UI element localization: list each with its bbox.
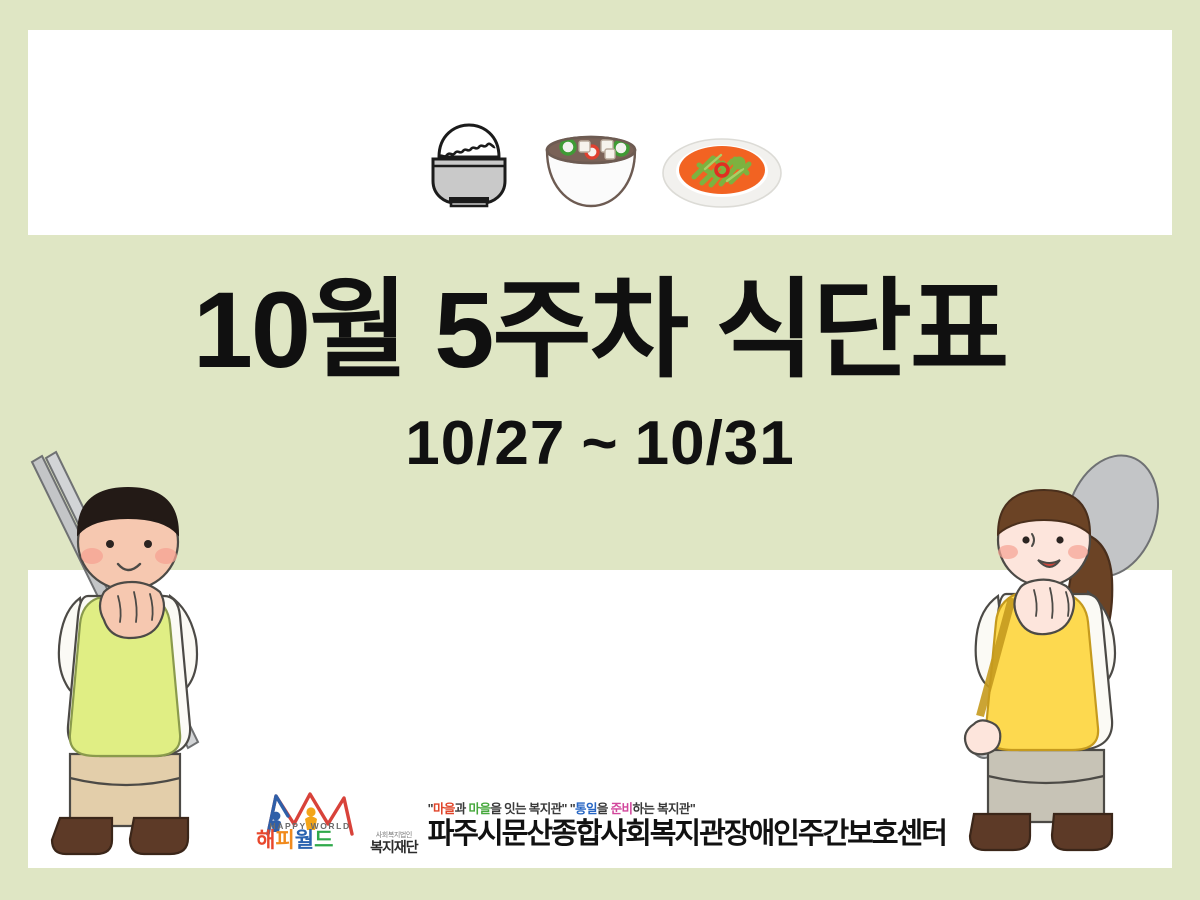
logo-char-3: 드 bbox=[314, 830, 333, 851]
tagline-seg-7: 준비 bbox=[611, 802, 633, 816]
logo-char-2: 월 bbox=[295, 830, 314, 851]
logo-subtitle: 사회복지법인 복지재단 bbox=[370, 832, 418, 858]
tagline-seg-8: 하는 복지관" bbox=[632, 802, 695, 816]
girl-with-spoon bbox=[940, 448, 1190, 882]
logo-char-1: 피 bbox=[275, 830, 294, 851]
tagline-seg-6: 을 bbox=[597, 802, 611, 816]
organization-name: 파주시문산종합사회복지관장애인주간보호센터 bbox=[428, 820, 946, 849]
title-block: 10월 5주차 식단표 10/27~10/31 bbox=[0, 272, 1200, 475]
footer-text-block: "마을과 마을을 잇는 복지관" "통일을 준비하는 복지관" 파주시문산종합사… bbox=[428, 798, 946, 849]
date-separator: ~ bbox=[581, 409, 618, 478]
logo-sub-small: 사회복지법인 bbox=[370, 832, 418, 839]
happy-world-logo: HAPPY WORLD 해피월드 사회복지법인 복지재단 bbox=[254, 788, 418, 858]
footer-tagline: "마을과 마을을 잇는 복지관" "통일을 준비하는 복지관" bbox=[428, 798, 946, 817]
tagline-seg-5: 통일 bbox=[575, 802, 597, 816]
date-end: 10/31 bbox=[635, 409, 795, 478]
date-start: 10/27 bbox=[405, 409, 565, 478]
tagline-seg-2: 과 bbox=[455, 802, 469, 816]
page-title: 10월 5주차 식단표 bbox=[0, 272, 1200, 389]
tagline-seg-3: 마을 bbox=[469, 802, 491, 816]
menu-poster: 10월 5주차 식단표 10/27~10/31 bbox=[0, 0, 1200, 900]
tagline-seg-4: 을 잇는 복지관" " bbox=[490, 802, 575, 816]
top-white-band bbox=[28, 30, 1172, 235]
tagline-seg-1: 마을 bbox=[433, 802, 455, 816]
logo-sub-main: 복지재단 bbox=[370, 839, 418, 856]
boy-with-chopsticks bbox=[18, 446, 278, 882]
